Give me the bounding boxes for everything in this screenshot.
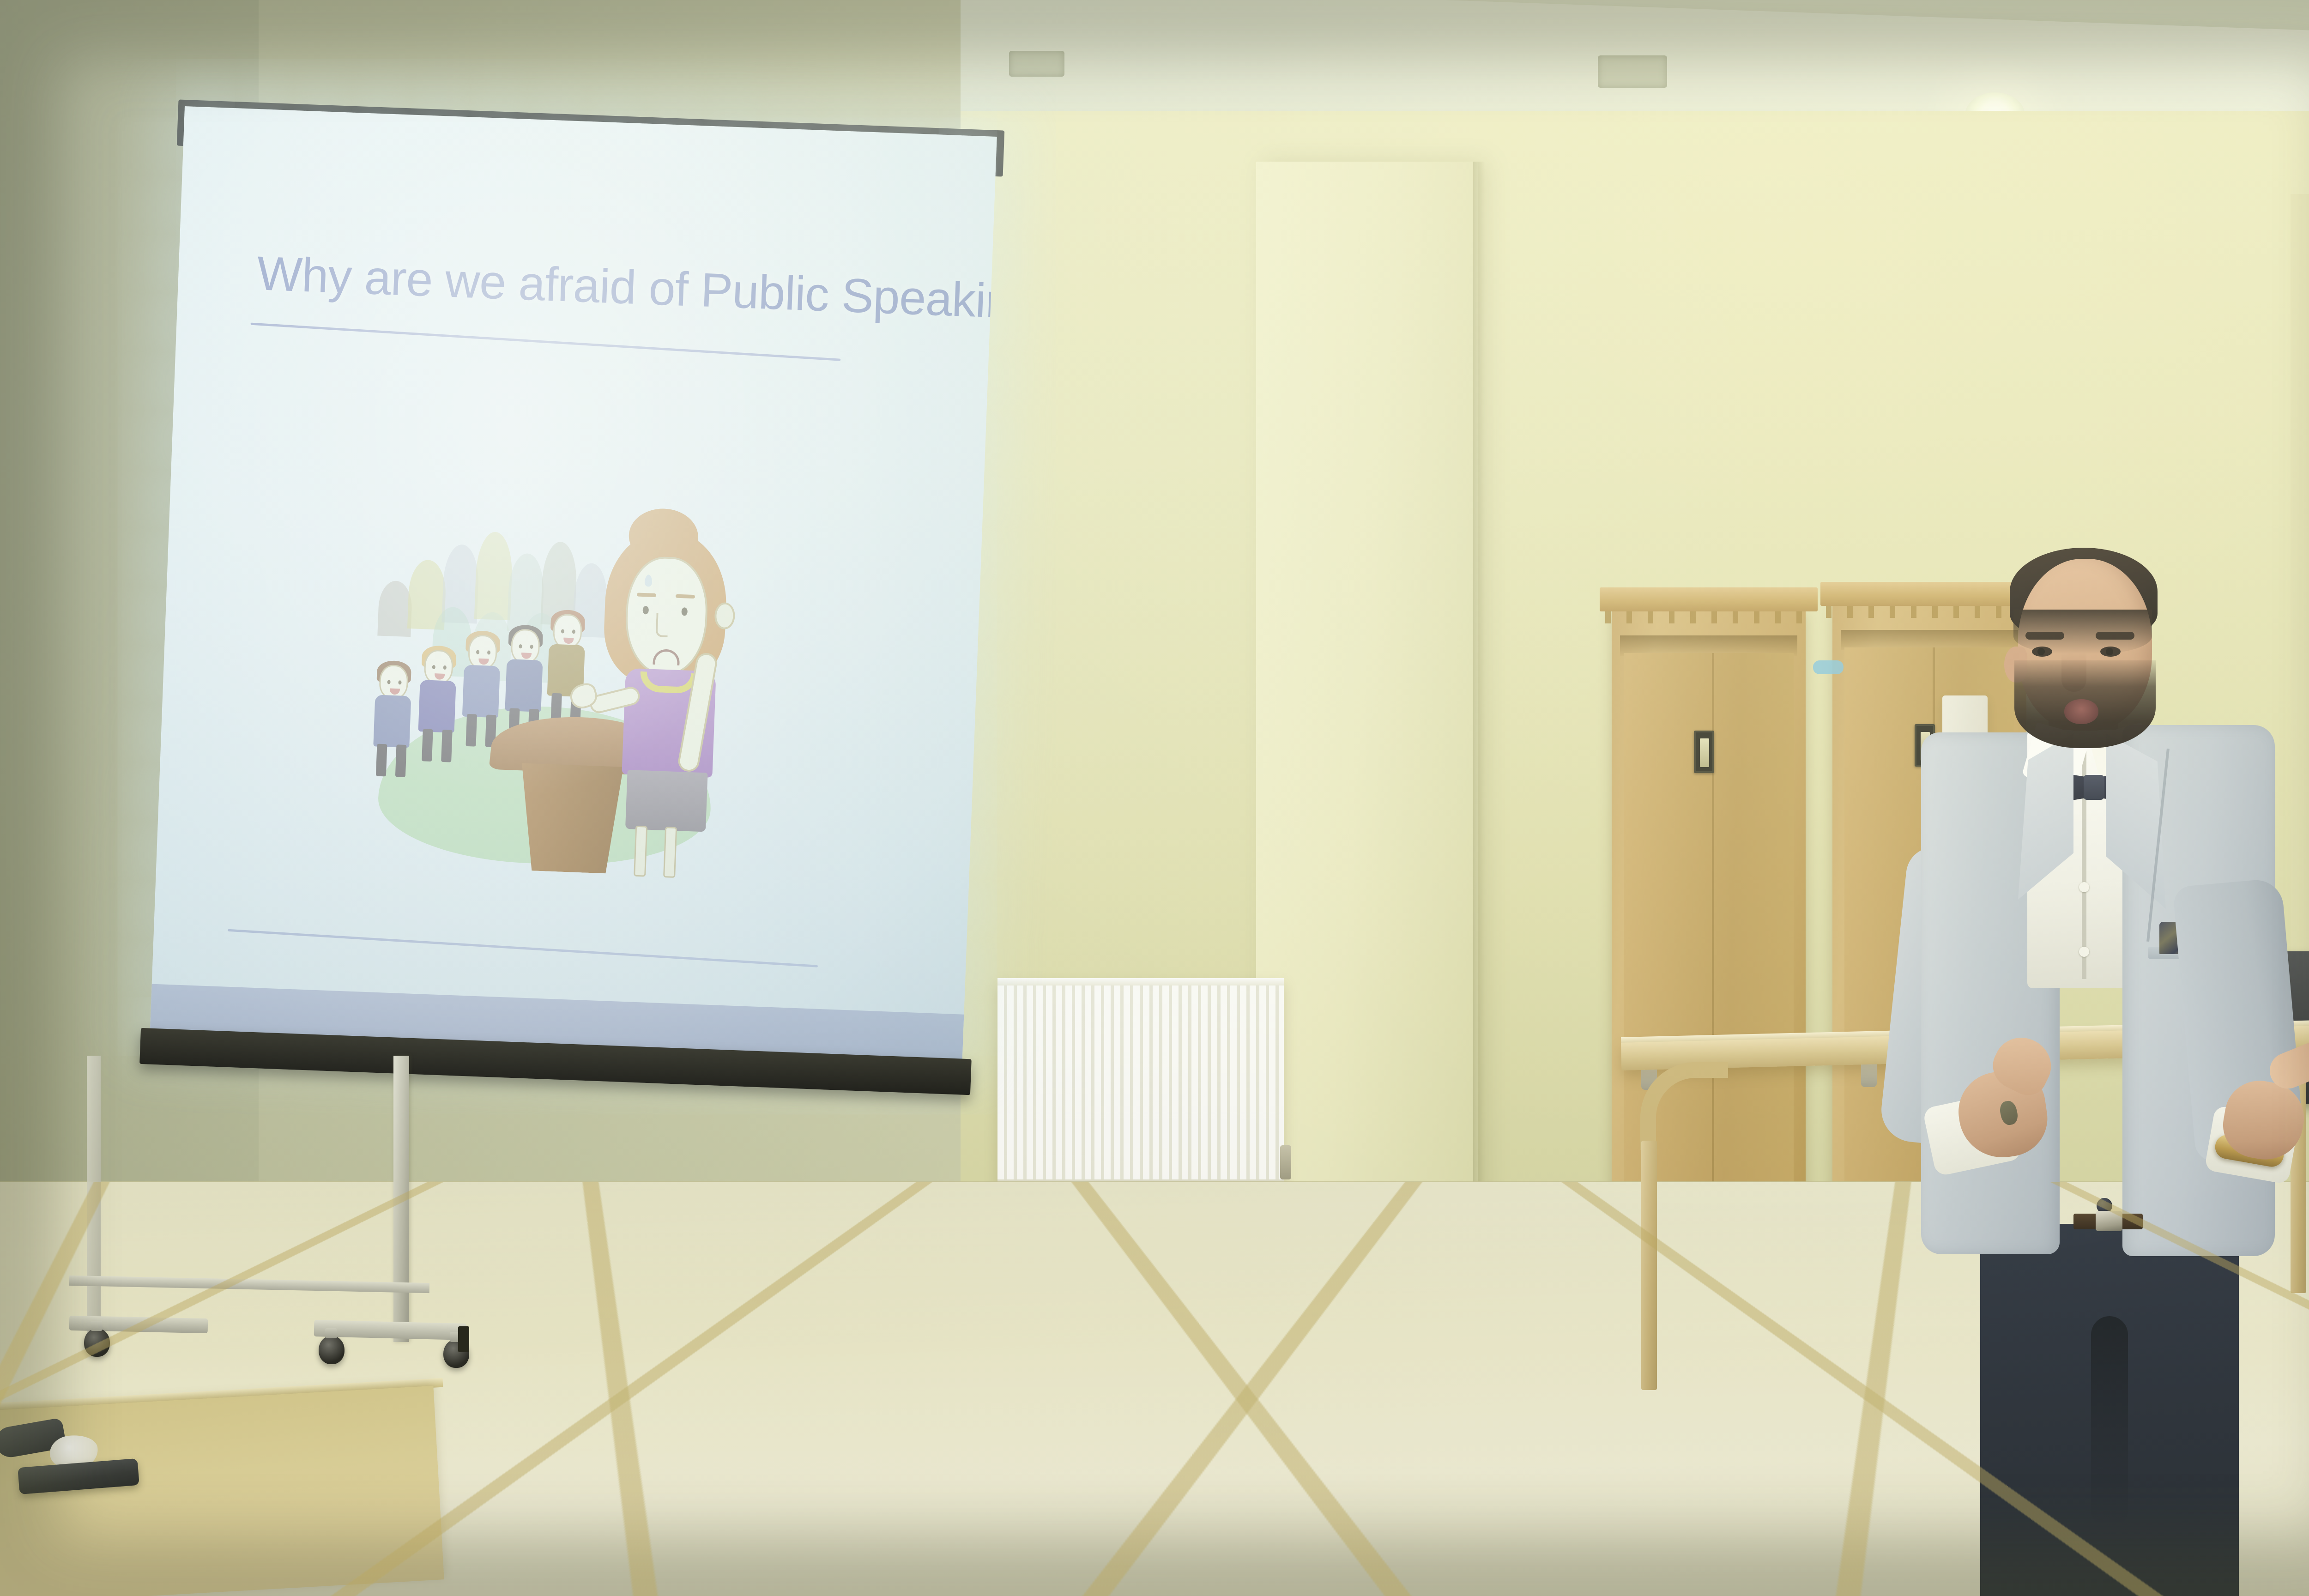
audience-head (379, 665, 409, 700)
speaker-leg-right (663, 827, 677, 878)
conference-table-leg-left (1641, 1141, 1657, 1390)
door-left-dentil-molding (1605, 611, 1812, 623)
door-blue-sticker (1813, 660, 1844, 674)
door-left-pediment (1600, 587, 1818, 611)
speaker-brow-right (676, 594, 695, 599)
audience-eye-left (519, 644, 522, 648)
wall-radiator (997, 978, 1284, 1191)
wall-column (1256, 162, 1478, 1242)
audience-eye-right (398, 680, 401, 684)
audience-leg-left (422, 729, 433, 762)
presenter-eye-right (2100, 647, 2121, 657)
radiator-valve[interactable] (1280, 1145, 1291, 1179)
illustration-nervous-speaker (591, 529, 751, 871)
speaker-ear (714, 602, 735, 630)
slide-illustration (350, 483, 748, 889)
screen-stand-brake[interactable] (458, 1326, 469, 1352)
speaker-eye-right (681, 607, 688, 616)
door-left[interactable] (1612, 609, 1806, 1246)
radiator-top-cap (997, 978, 1284, 985)
presenter-trouser-fold (2091, 1316, 2128, 1529)
presenter-shirt-button-2 (2079, 947, 2089, 957)
speaker-leg-left (634, 826, 647, 877)
presenter (1866, 531, 2309, 1596)
audience-eye-left (387, 680, 390, 684)
audience-head (510, 629, 540, 664)
slide-bottom-rule (228, 929, 818, 967)
audience-eye-left (432, 665, 435, 669)
presenter-hand-right-pointing (2213, 1039, 2309, 1164)
audience-body (418, 680, 456, 733)
presenter-shirt-button-1 (2079, 882, 2089, 892)
speaker-frown (653, 649, 680, 665)
audience-eye-left (561, 629, 564, 633)
radiator-fins (997, 983, 1284, 1179)
audience-mouth (563, 638, 574, 644)
ceiling-vent-3 (1009, 51, 1064, 77)
wall-column-edge (1473, 162, 1485, 1242)
presenter-belt-buckle (2096, 1211, 2122, 1231)
presenter-mouth-speaking (2064, 699, 2098, 724)
ceiling-vent-1 (1598, 55, 1667, 88)
bow-tie-knot (2084, 775, 2104, 800)
audience-mouth (390, 689, 400, 695)
audience-head (553, 614, 583, 649)
presenter-eye-left (2032, 647, 2052, 657)
audience-body (505, 659, 543, 712)
projector-screen: Why are we afraid of Public Speaking? (149, 106, 997, 1078)
screen-stand-post-left (87, 1056, 101, 1333)
presentation-slide: Why are we afraid of Public Speaking? (150, 106, 997, 1064)
presenter-brow-left (2025, 632, 2064, 640)
stage-platform (0, 1386, 444, 1596)
audience-head (423, 649, 453, 684)
audience-leg-right (395, 744, 407, 777)
audience-body (373, 695, 411, 748)
audience-mouth (521, 653, 532, 659)
audience-eye-right (443, 665, 447, 670)
audience-mouth (435, 673, 445, 680)
presenter-brow-right (2096, 632, 2134, 640)
speaker-sweat-drop (645, 574, 653, 587)
audience-leg-left (465, 714, 477, 747)
audience-head (468, 635, 498, 670)
speaker-nose (656, 613, 669, 637)
audience-eye-left (476, 650, 479, 654)
door-left-plaque (1694, 731, 1714, 773)
screen-stand-post-right (393, 1056, 409, 1342)
screen-stand-caster-far-left[interactable] (84, 1328, 110, 1357)
projector-screen-surface: Why are we afraid of Public Speaking? (150, 106, 997, 1064)
slide-title-underline (250, 323, 840, 361)
audience-leg-right (441, 730, 453, 762)
audience-leg-left (376, 744, 387, 777)
audience-eye-right (530, 645, 533, 649)
speaker-brow-left (637, 592, 656, 597)
speaker-skirt (625, 770, 708, 832)
presenter-trousers (1980, 1224, 2239, 1596)
speaker-eye-left (642, 606, 649, 614)
slide-title: Why are we afraid of Public Speaking? (256, 248, 918, 324)
presenter-hand-left-gesturing (1951, 1041, 2057, 1166)
right-palm (2218, 1075, 2309, 1165)
audience-eye-right (487, 650, 490, 654)
photo-scene: Why are we afraid of Public Speaking? (0, 0, 2309, 1596)
screen-stand-caster-left[interactable] (319, 1336, 345, 1364)
audience-body (462, 665, 500, 718)
audience-eye-right (572, 629, 575, 634)
audience-mouth (478, 659, 489, 665)
